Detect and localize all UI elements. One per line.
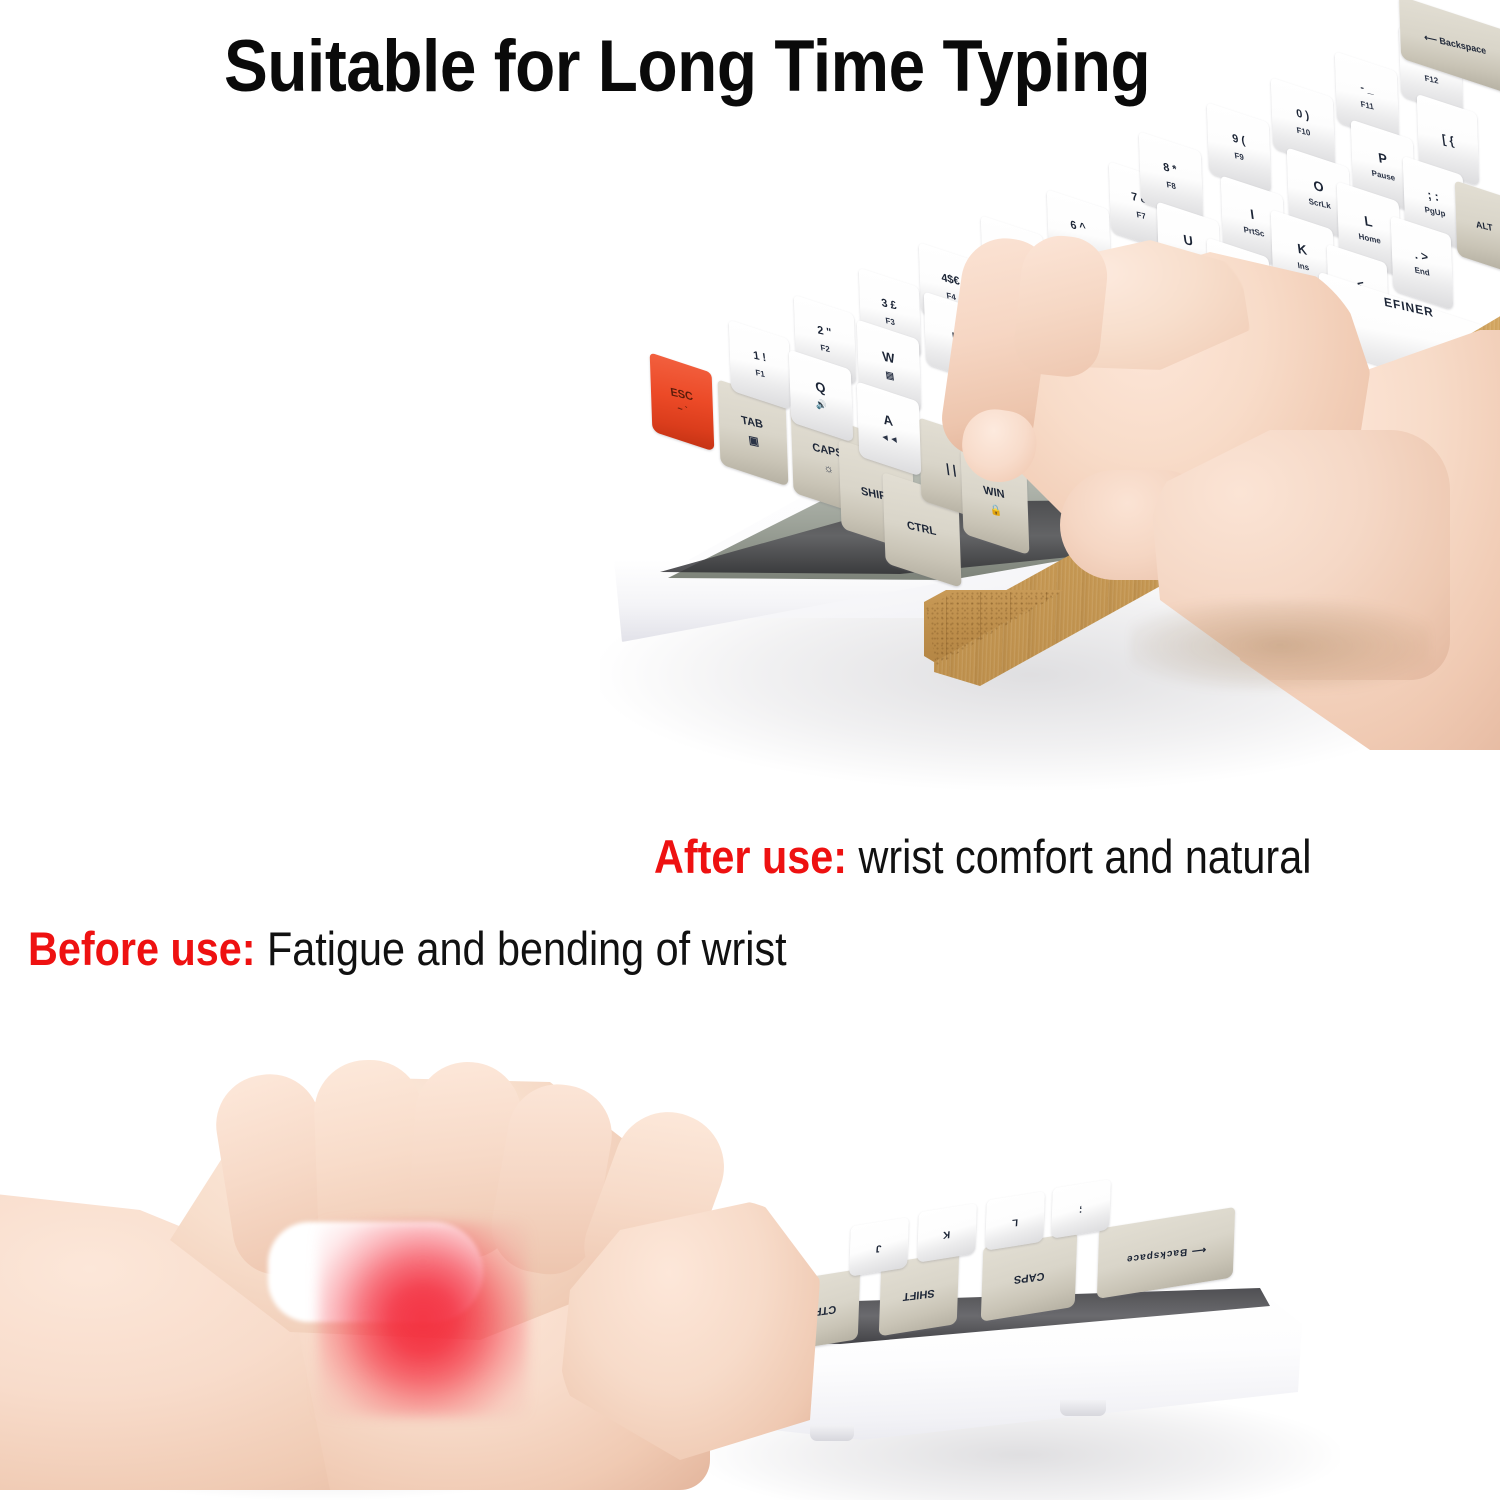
key-white-lower-2[interactable]: K xyxy=(917,1203,977,1263)
key-white-lower-3[interactable]: L xyxy=(985,1191,1045,1251)
caption-after-label: After use: xyxy=(654,830,847,883)
caption-after-text: wrist comfort and natural xyxy=(847,830,1311,883)
caption-before-text: Fatigue and bending of wrist xyxy=(256,922,787,975)
caption-after-use: After use: wrist comfort and natural xyxy=(654,833,1311,880)
caption-before-use: Before use: Fatigue and bending of wrist xyxy=(28,925,787,972)
key-spacebar-lower[interactable]: ⟵ Backspace xyxy=(1097,1207,1235,1299)
caption-before-label: Before use: xyxy=(28,922,256,975)
keyboard-foot xyxy=(1060,1400,1106,1416)
finger-middle xyxy=(1011,232,1111,380)
after-use-photo: ESC ~ ` TAB ▣ CAPS ☼ SHIFT CTRL | | WIN xyxy=(0,0,1500,830)
finger-gap xyxy=(268,1222,483,1322)
key-white-lower-1[interactable]: J xyxy=(849,1217,909,1277)
keyboard-foot xyxy=(810,1425,854,1441)
key-alt-right[interactable]: ALT xyxy=(1455,180,1500,273)
key-9[interactable]: 9 ( F9 xyxy=(1207,102,1271,193)
before-use-photo: CTRL SHIFT CAPS ⟵ Backspace TAB J K L ; xyxy=(0,1000,1500,1500)
key-white-lower-4[interactable]: ; xyxy=(1051,1179,1111,1239)
key-esc[interactable]: ESC ~ ` xyxy=(650,352,715,451)
wrist-shadow-on-pad xyxy=(1130,600,1430,690)
